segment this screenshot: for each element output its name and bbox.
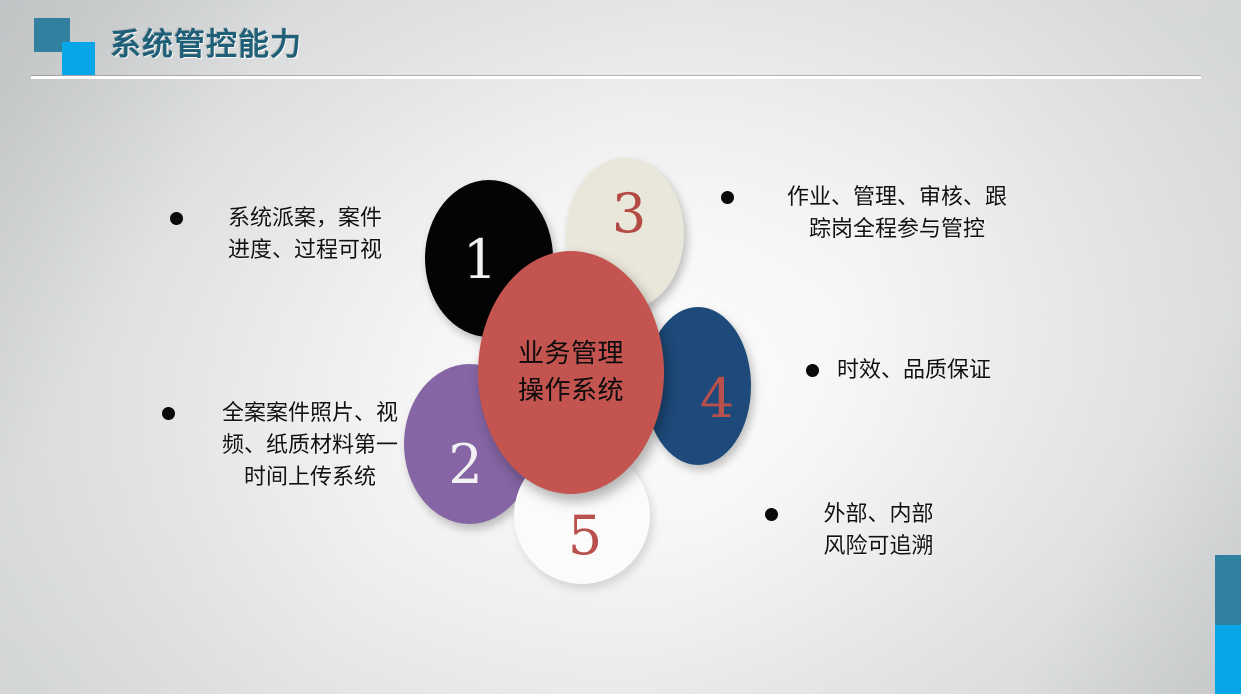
corner-accent (1215, 555, 1241, 694)
petal-diagram: 1 3 2 4 5 业务管理 操作系统 (0, 0, 1241, 694)
diagram-center-label: 业务管理 操作系统 (518, 336, 624, 410)
callout-4: 时效、品质保证 (806, 355, 1056, 387)
header-divider (31, 75, 1201, 79)
callout-5: 外部、内部 风险可追溯 (765, 499, 1015, 563)
callout-2-text: 全案案件照片、视 频、纸质材料第一 时间上传系统 (191, 398, 429, 494)
bullet-dot-icon (765, 508, 778, 521)
page-title: 系统管控能力 (110, 19, 302, 64)
slide-header: 系统管控能力 (0, 0, 1241, 96)
petal-4-number: 4 (700, 372, 734, 426)
petal-1-number: 1 (463, 233, 497, 287)
header-square-blue-icon (62, 42, 95, 75)
slide-canvas: 系统管控能力 1 3 2 4 5 业务管理 操作系统 系统派案，案件 进度、过程… (0, 0, 1241, 694)
callout-3: 作业、管理、审核、跟 踪岗全程参与管控 (721, 182, 1051, 246)
callout-5-text: 外部、内部 风险可追溯 (796, 499, 961, 563)
callout-1: 系统派案，案件 进度、过程可视 (170, 203, 420, 267)
petal-2-number: 2 (448, 438, 482, 492)
callout-1-text: 系统派案，案件 进度、过程可视 (199, 203, 411, 267)
callout-2: 全案案件照片、视 频、纸质材料第一 时间上传系统 (162, 398, 430, 494)
corner-accent-blue (1215, 625, 1241, 694)
bullet-dot-icon (162, 407, 175, 420)
header-divider-highlight (31, 76, 1201, 79)
corner-accent-teal (1215, 555, 1241, 625)
callout-4-text: 时效、品质保证 (837, 355, 991, 387)
diagram-center-ellipse[interactable]: 业务管理 操作系统 (478, 251, 664, 494)
callout-3-text: 作业、管理、审核、跟 踪岗全程参与管控 (752, 182, 1042, 246)
bullet-dot-icon (170, 212, 183, 225)
petal-5-number: 5 (568, 509, 602, 563)
bullet-dot-icon (721, 191, 734, 204)
petal-3-number: 3 (612, 187, 646, 241)
bullet-dot-icon (806, 364, 819, 377)
